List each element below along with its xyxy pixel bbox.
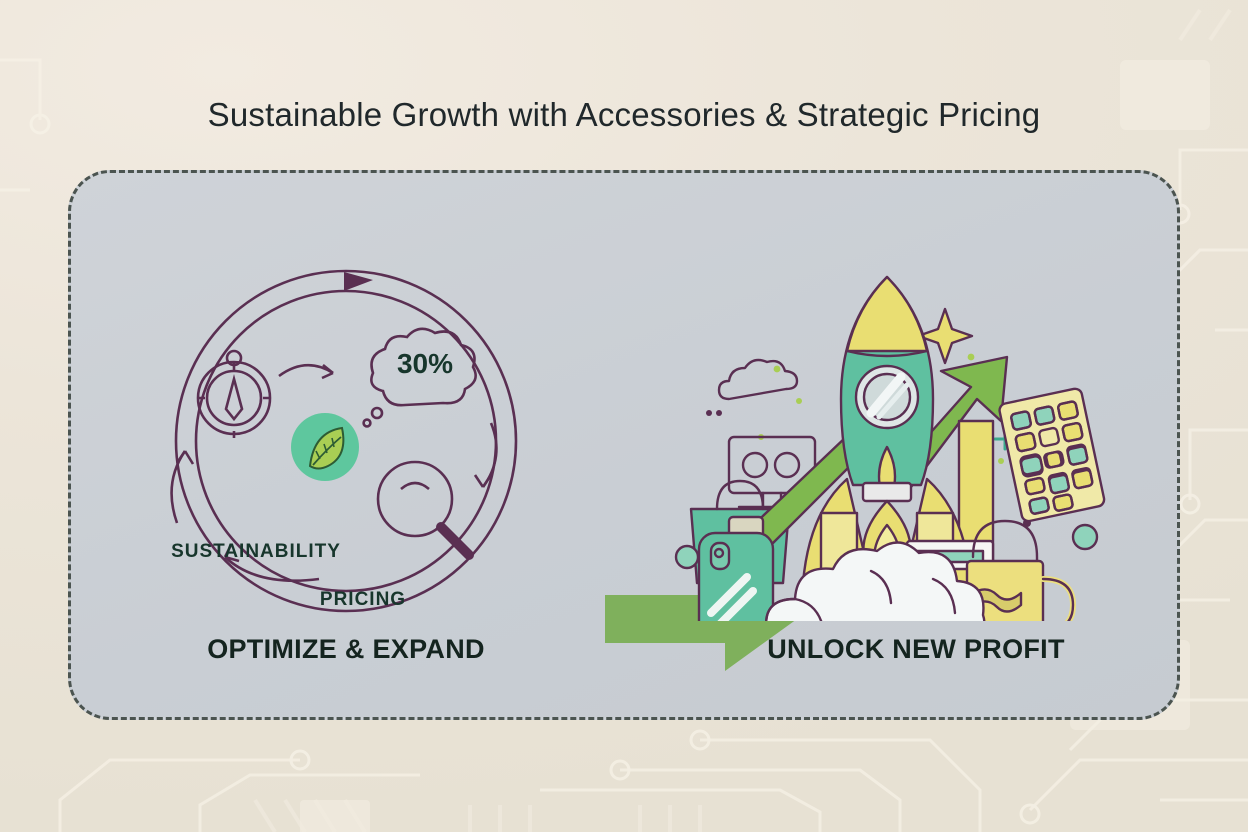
rocket-icon <box>841 277 933 501</box>
cycle-diagram: 30% <box>101 261 591 621</box>
calculator-icon <box>998 387 1105 522</box>
compass-icon <box>198 351 270 438</box>
label-pricing: PRICING <box>320 589 406 610</box>
left-column: 30% <box>101 173 591 717</box>
rocket-illustration <box>671 261 1161 621</box>
arc-arrow-right <box>475 423 496 487</box>
magnifier-icon <box>378 462 469 555</box>
mug-icon <box>1043 579 1073 621</box>
right-column: UNLOCK NEW PROFIT <box>671 173 1161 717</box>
slide-canvas: Sustainable Growth with Accessories & St… <box>0 0 1248 832</box>
bubble-value: 30% <box>397 348 453 379</box>
leaf-icon <box>291 413 359 481</box>
page-title: Sustainable Growth with Accessories & St… <box>0 96 1248 134</box>
phone-case-icon <box>699 517 773 621</box>
right-caption: UNLOCK NEW PROFIT <box>671 634 1161 665</box>
left-caption: OPTIMIZE & EXPAND <box>101 634 591 665</box>
label-sustainability: SUSTAINABILITY <box>171 541 341 562</box>
cycle-arrowhead-icon <box>344 272 373 291</box>
content-panel: 30% <box>68 170 1180 720</box>
cloud-icon <box>719 360 797 399</box>
arc-arrow-top <box>279 365 333 378</box>
